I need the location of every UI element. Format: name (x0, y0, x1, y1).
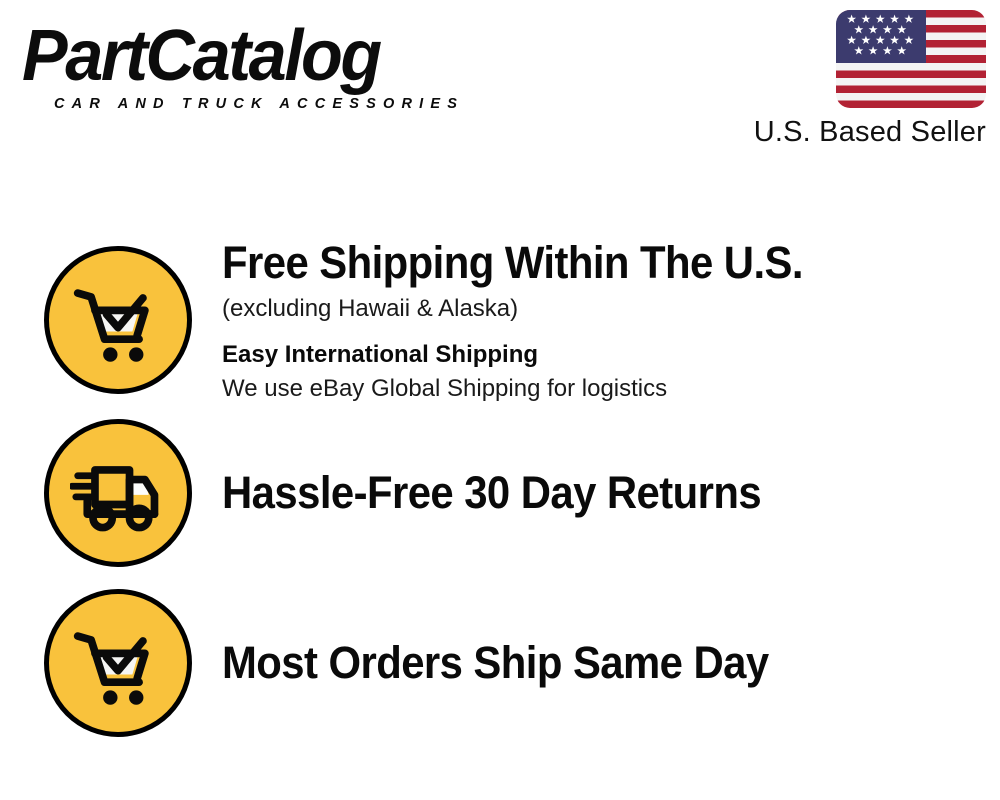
brand-tagline: CAR AND TRUCK ACCESSORIES (54, 96, 464, 112)
shopping-cart-check-icon (44, 246, 192, 394)
brand-logo[interactable]: PartCatalog CAR AND TRUCK ACCESSORIES (22, 20, 492, 115)
feature-subtitle-strong: Easy International Shipping (222, 338, 980, 372)
shopping-cart-check-icon (44, 589, 192, 737)
us-based-seller-label: U.S. Based Seller (718, 115, 986, 149)
feature-row: Most Orders Ship Same Day (0, 585, 1000, 740)
feature-row: Free Shipping Within The U.S. (excluding… (0, 230, 1000, 410)
page-header: PartCatalog CAR AND TRUCK ACCESSORIES (0, 0, 1000, 175)
delivery-truck-icon (44, 419, 192, 567)
feature-row: Hassle-Free 30 Day Returns (0, 415, 1000, 570)
feature-title: Most Orders Ship Same Day (222, 636, 927, 690)
brand-wordmark: PartCatalog (22, 20, 469, 92)
feature-subtitle-plain: We use eBay Global Shipping for logistic… (222, 372, 980, 405)
feature-title: Free Shipping Within The U.S. (222, 236, 927, 290)
us-based-seller-badge: U.S. Based Seller (718, 10, 986, 149)
feature-text-block: Hassle-Free 30 Day Returns (222, 466, 1000, 520)
feature-text-block: Most Orders Ship Same Day (222, 636, 1000, 690)
feature-note: (excluding Hawaii & Alaska) (222, 292, 980, 326)
feature-text-block: Free Shipping Within The U.S. (excluding… (222, 236, 1000, 405)
flag-canton (836, 10, 926, 63)
us-flag-icon (836, 10, 986, 108)
feature-title: Hassle-Free 30 Day Returns (222, 466, 927, 520)
